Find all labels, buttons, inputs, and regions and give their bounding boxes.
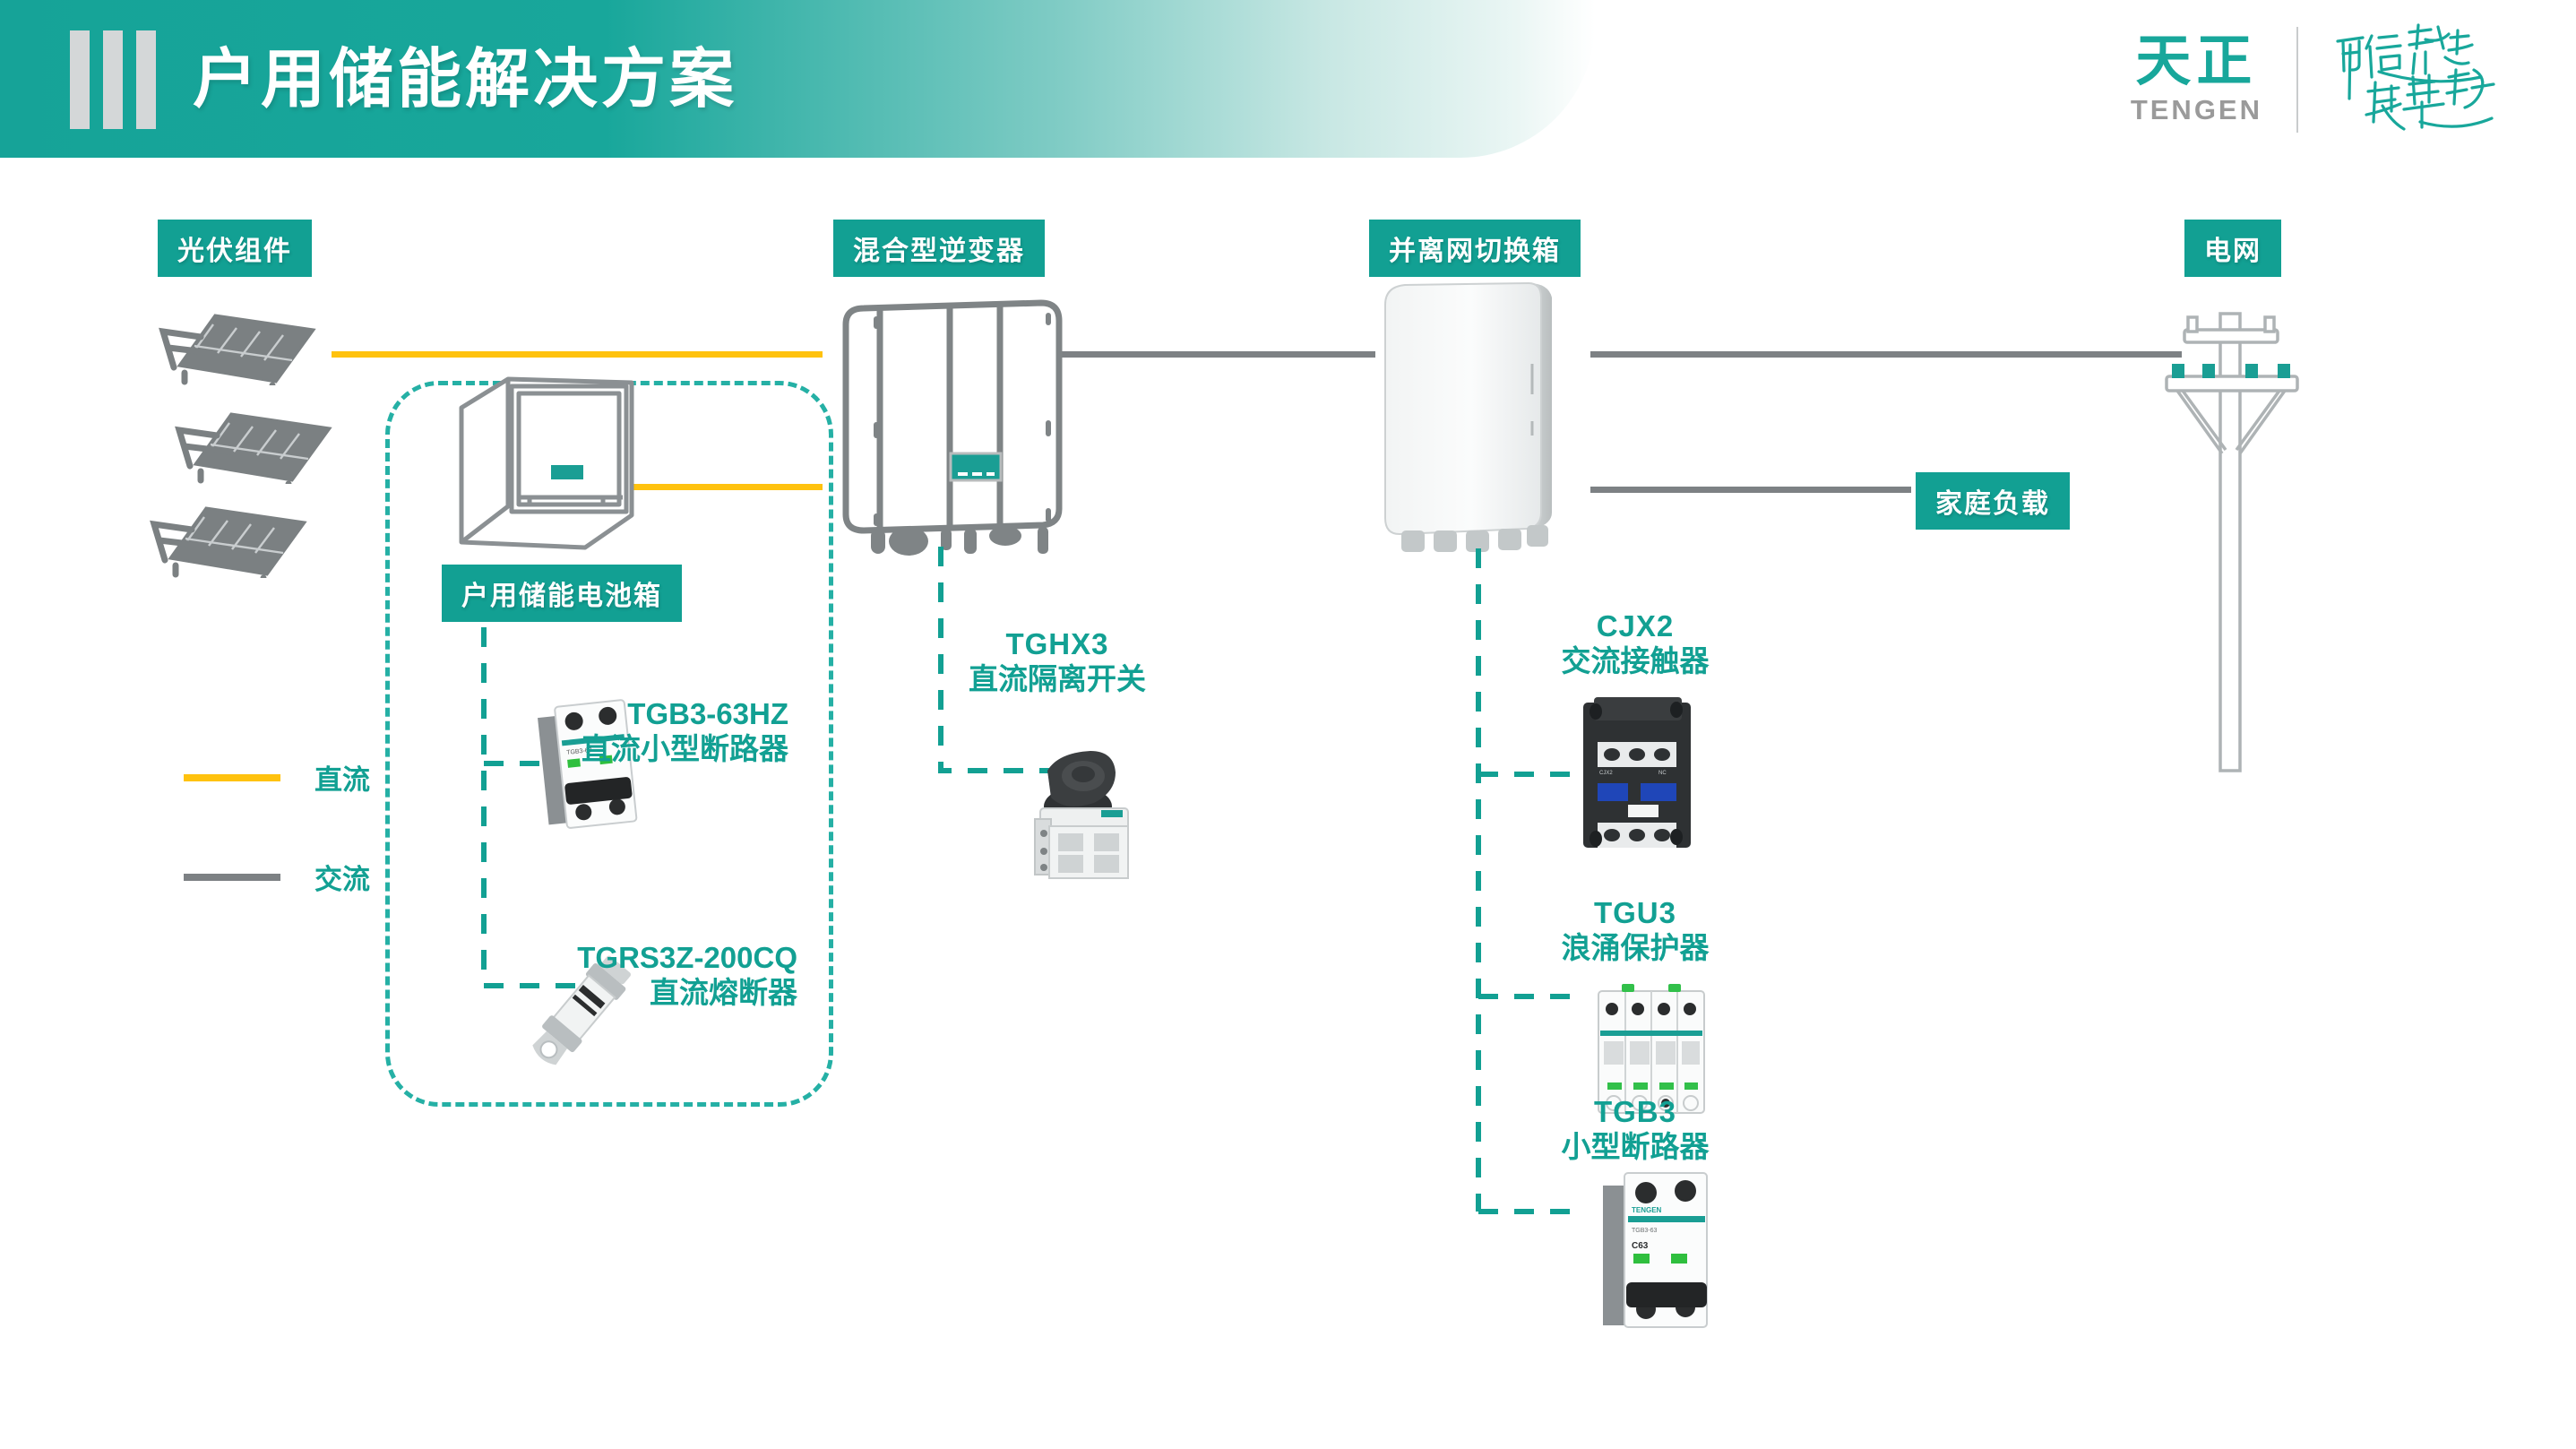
legend-label-dc: 直流 bbox=[314, 757, 370, 798]
logo-divider bbox=[2296, 27, 2298, 133]
product-caption-tghx3: TGHX3 直流隔离开关 bbox=[941, 627, 1174, 697]
page-title: 户用储能解决方案 bbox=[193, 30, 737, 129]
product-caption-tgb3-63hz: TGB3-63HZ 直流小型断路器 bbox=[556, 697, 788, 767]
solar-panel-icon bbox=[143, 296, 323, 385]
logo-chinese-name: 天正 bbox=[2135, 33, 2257, 91]
legend-swatch-dc bbox=[184, 774, 280, 781]
badge-hybrid-inverter: 混合型逆变器 bbox=[833, 220, 1045, 277]
product-image-tghx3 bbox=[1008, 733, 1151, 885]
brand-logo: 天正 TENGEN bbox=[2131, 22, 2503, 138]
battery-cabinet-icon bbox=[452, 372, 659, 551]
product-caption-tgrs3z-200cq: TGRS3Z-200CQ 直流熔断器 bbox=[538, 941, 797, 1011]
transfer-switchbox-icon bbox=[1369, 278, 1593, 556]
solar-panel-icon bbox=[134, 488, 314, 578]
slide-canvas: 户用储能解决方案 天正 TENGEN bbox=[0, 0, 2576, 1449]
svg-text:CJX2: CJX2 bbox=[1599, 771, 1613, 776]
mcb-model-text: TGB3-63 bbox=[1632, 1228, 1658, 1234]
product-caption-cjx2: CJX2 交流接触器 bbox=[1505, 609, 1765, 679]
badge-transfer-switchbox: 并离网切换箱 bbox=[1369, 220, 1581, 277]
logo-english-name: TENGEN bbox=[2131, 94, 2262, 126]
hybrid-inverter-icon bbox=[833, 296, 1093, 565]
svg-text:NC: NC bbox=[1658, 771, 1667, 776]
legend-label-ac: 交流 bbox=[314, 857, 370, 897]
product-image-tgb3: TENGEN TGB3-63 C63 bbox=[1590, 1160, 1725, 1340]
mcb-rating-text: C63 bbox=[1632, 1241, 1649, 1251]
utility-pole-icon bbox=[2150, 296, 2312, 780]
header-bars-icon bbox=[70, 30, 156, 129]
product-image-cjx2: CJX2 NC bbox=[1572, 690, 1707, 860]
slogan-handwriting-icon bbox=[2332, 22, 2503, 138]
legend-item-dc: 直流 bbox=[184, 757, 370, 798]
wire-ac-switchbox-to-grid bbox=[1590, 351, 2182, 358]
legend: 直流 交流 bbox=[184, 757, 370, 956]
badge-home-load: 家庭负载 bbox=[1916, 472, 2070, 530]
wire-ac-inverter-to-switchbox bbox=[1057, 351, 1375, 358]
wire-dc-pv-to-inverter bbox=[332, 351, 823, 358]
wire-ac-switchbox-to-home-load bbox=[1590, 487, 1911, 493]
legend-swatch-ac bbox=[184, 874, 280, 881]
badge-pv-modules: 光伏组件 bbox=[158, 220, 312, 277]
product-caption-tgb3: TGB3 小型断路器 bbox=[1505, 1095, 1765, 1165]
product-caption-tgu3: TGU3 浪涌保护器 bbox=[1505, 896, 1765, 966]
solar-panel-icon bbox=[159, 394, 339, 484]
legend-item-ac: 交流 bbox=[184, 857, 370, 897]
mcb-brand-text: TENGEN bbox=[1632, 1206, 1662, 1214]
badge-grid: 电网 bbox=[2184, 220, 2281, 277]
